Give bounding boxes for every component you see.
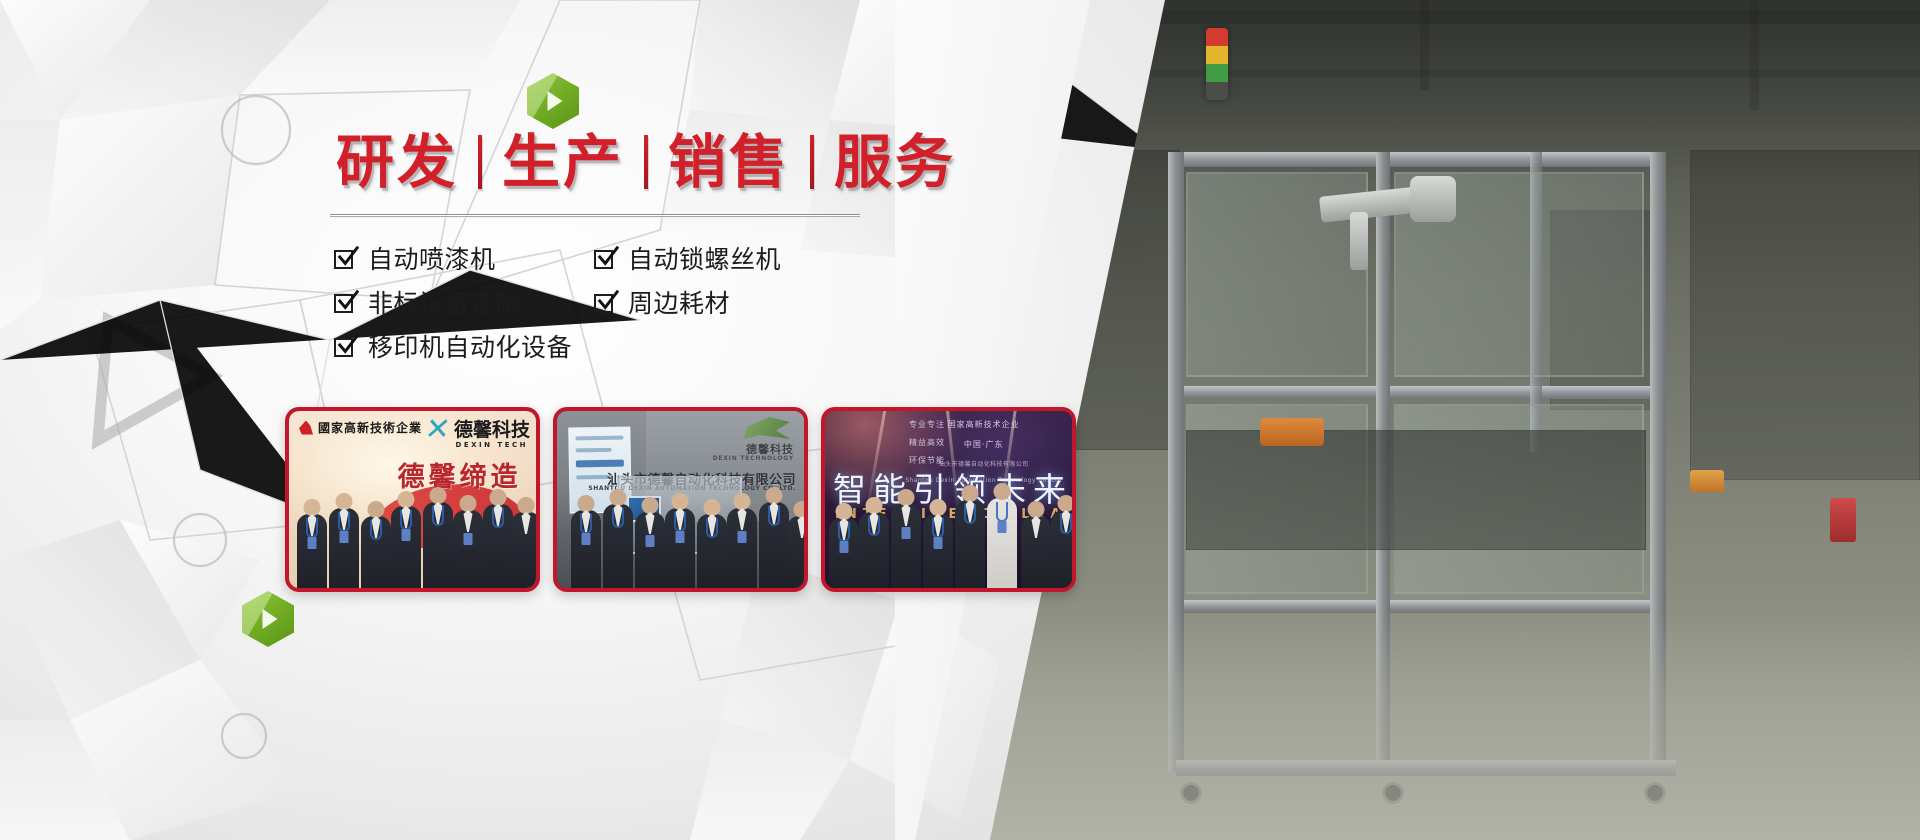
feature-item-5: 移印机自动化设备 bbox=[334, 328, 594, 364]
dexin-x-mark-icon: ✕ bbox=[423, 415, 452, 445]
card1-brand-cn: 德馨科技 bbox=[454, 421, 530, 440]
photo-card-exhibition-booth[interactable]: 德馨科技 DEXIN TECHNOLOGY 汕头市德馨自动化科技有限公司 SHA… bbox=[553, 407, 808, 592]
feature-label: 非标设备定制 bbox=[368, 284, 521, 320]
feature-label: 周边耗材 bbox=[628, 284, 730, 320]
headline-separator bbox=[478, 135, 482, 189]
checkbox-checked-icon bbox=[334, 248, 355, 269]
card3-right-tag: 中国·广东 bbox=[905, 439, 1062, 450]
headline-separator bbox=[644, 135, 648, 189]
play-hexagon-icon-top bbox=[527, 73, 579, 129]
headline-separator bbox=[810, 135, 814, 189]
card1-award-text: 國家高新技術企業 bbox=[318, 419, 422, 436]
feature-label: 自动锁螺丝机 bbox=[628, 240, 781, 276]
feature-list: 自动喷漆机 自动锁螺丝机 非标设备定制 bbox=[334, 236, 854, 368]
card3-right-tag: 国家高新技术企业 bbox=[905, 419, 1062, 430]
card2-people-group bbox=[557, 507, 804, 588]
play-hexagon-icon-bottom bbox=[242, 591, 294, 647]
card1-top-banner: 國家高新技術企業 bbox=[299, 419, 422, 436]
feature-label: 移印机自动化设备 bbox=[368, 328, 572, 364]
headline-divider-rule bbox=[330, 214, 860, 218]
feature-label: 自动喷漆机 bbox=[368, 240, 496, 276]
headline-word-1: 研发 bbox=[330, 133, 464, 191]
feature-item-1: 自动喷漆机 bbox=[334, 240, 594, 276]
photo-card-award-ceremony[interactable]: 國家高新技術企業 ✕ 德馨科技 DEXIN TECH 德馨缔造 bbox=[285, 407, 540, 592]
card1-script-text: 德馨缔造 bbox=[398, 455, 522, 494]
card2-brand-en: DEXIN TECHNOLOGY bbox=[713, 455, 794, 462]
headline-word-4: 服务 bbox=[828, 133, 962, 191]
photo-card-intelligence-expo[interactable]: 专业专注 精益高效 环保节能 国家高新技术企业 中国·广东 汕头市德馨自动化科技… bbox=[821, 407, 1076, 592]
feature-item-4: 周边耗材 bbox=[594, 284, 854, 320]
feature-item-2: 自动锁螺丝机 bbox=[594, 240, 854, 276]
card1-brand-en: DEXIN TECH bbox=[456, 441, 528, 449]
feature-item-3: 非标设备定制 bbox=[334, 284, 594, 320]
headline-word-3: 销售 bbox=[662, 133, 796, 191]
card1-people-group bbox=[289, 507, 536, 588]
factory-machine-photo bbox=[990, 0, 1920, 840]
checkbox-checked-icon bbox=[334, 336, 355, 357]
checkbox-checked-icon bbox=[594, 248, 615, 269]
promo-banner: 研发 生产 销售 服务 自动喷漆机 自动锁螺丝机 bbox=[0, 0, 1920, 840]
checkbox-checked-icon bbox=[594, 292, 615, 313]
card3-people-group bbox=[825, 507, 1072, 588]
flame-icon bbox=[299, 421, 313, 435]
checkbox-checked-icon bbox=[334, 292, 355, 313]
page-title: 研发 生产 销售 服务 bbox=[330, 129, 962, 195]
photo-card-strip: 國家高新技術企業 ✕ 德馨科技 DEXIN TECH 德馨缔造 bbox=[285, 407, 1076, 592]
headline-word-2: 生产 bbox=[496, 133, 630, 191]
